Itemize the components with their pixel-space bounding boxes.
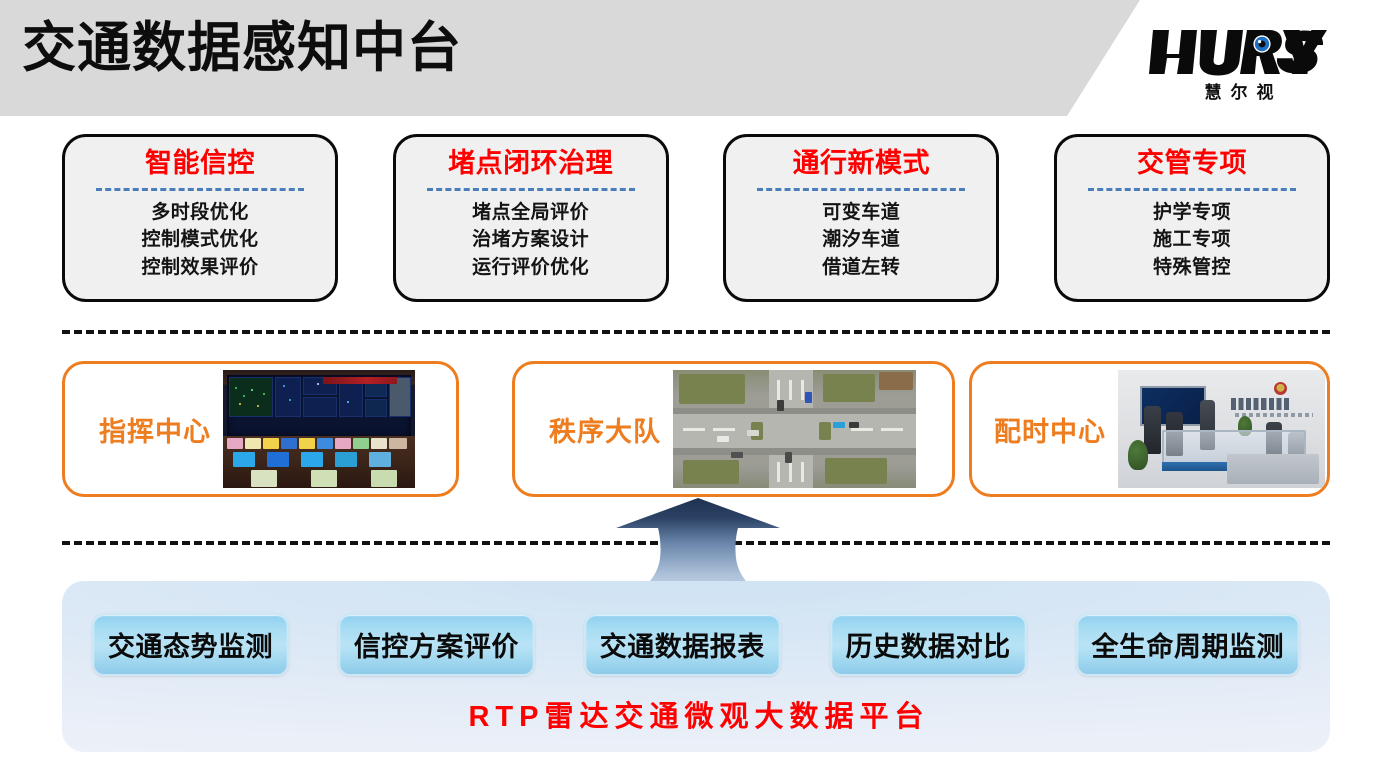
feature-card-title: 交管专项: [1137, 147, 1247, 181]
logo-subtitle: 慧尔视: [1149, 78, 1329, 103]
feature-card-item: 堵点全局评价: [472, 199, 589, 227]
feature-card-items: 堵点全局评价 治堵方案设计 运行评价优化: [472, 199, 589, 282]
feature-card-congestion-closed-loop[interactable]: 堵点闭环治理 堵点全局评价 治堵方案设计 运行评价优化: [393, 134, 669, 302]
signal-timing-center-photo: [1118, 370, 1325, 488]
feature-card-item: 控制效果评价: [141, 254, 258, 282]
feature-card-items: 多时段优化 控制模式优化 控制效果评价: [141, 199, 258, 282]
center-card-label: 秩序大队: [515, 410, 673, 449]
feature-card-item: 可变车道: [822, 199, 900, 227]
feature-card-row: 智能信控 多时段优化 控制模式优化 控制效果评价 堵点闭环治理 堵点全局评价 治…: [62, 134, 1330, 302]
feature-card-item: 借道左转: [822, 254, 900, 282]
platform-pill-traffic-situation[interactable]: 交通态势监测: [92, 613, 289, 676]
platform-pill-signal-plan-eval[interactable]: 信控方案评价: [338, 613, 535, 676]
feature-card-item: 特殊管控: [1153, 254, 1231, 282]
card-divider: [1088, 188, 1296, 191]
feature-card-items: 可变车道 潮汐车道 借道左转: [822, 199, 900, 282]
workstation-desk: [1227, 454, 1319, 484]
feature-card-items: 护学专项 施工专项 特殊管控: [1153, 199, 1231, 282]
feature-card-item: 潮汐车道: [822, 226, 900, 254]
feature-card-title: 通行新模式: [793, 147, 931, 181]
video-wall-banner: [323, 377, 397, 384]
platform-caption: RTP雷达交通微观大数据平台: [62, 693, 1330, 735]
aerial-intersection-photo: [673, 370, 916, 488]
huays-wordmark-icon: [1149, 24, 1329, 80]
center-card-timing-center[interactable]: 配时中心: [969, 361, 1330, 497]
eye-icon-glint: [1258, 40, 1261, 43]
feature-card-title: 智能信控: [145, 147, 255, 181]
feature-card-new-traffic-mode[interactable]: 通行新模式 可变车道 潮汐车道 借道左转: [723, 134, 999, 302]
card-divider: [427, 188, 635, 191]
feature-card-title: 堵点闭环治理: [448, 147, 613, 181]
data-platform-panel: 交通态势监测 信控方案评价 交通数据报表 历史数据对比 全生命周期监测 RTP雷…: [62, 581, 1330, 753]
feature-card-item: 护学专项: [1153, 199, 1231, 227]
police-emblem-icon: [1274, 382, 1287, 395]
feature-card-item: 控制模式优化: [141, 226, 258, 254]
feature-card-intelligent-signal[interactable]: 智能信控 多时段优化 控制模式优化 控制效果评价: [62, 134, 338, 302]
operator-desks: [223, 436, 415, 488]
wall-sign-text: [1231, 398, 1315, 410]
page-title: 交通数据感知中台: [22, 16, 462, 81]
card-divider: [757, 188, 965, 191]
platform-pill-row: 交通态势监测 信控方案评价 交通数据报表 历史数据对比 全生命周期监测: [92, 613, 1300, 676]
feature-card-item: 多时段优化: [151, 199, 249, 227]
platform-pill-history-comparison[interactable]: 历史数据对比: [830, 613, 1027, 676]
center-card-order-brigade[interactable]: 秩序大队: [512, 361, 955, 497]
platform-pill-lifecycle-monitoring[interactable]: 全生命周期监测: [1076, 613, 1301, 676]
center-card-row: 指挥中心: [62, 361, 1330, 497]
slide-canvas: 交通数据感知中台 慧尔视 智能信控: [0, 0, 1373, 769]
center-card-label: 配时中心: [972, 410, 1118, 449]
feature-card-traffic-management-special[interactable]: 交管专项 护学专项 施工专项 特殊管控: [1054, 134, 1330, 302]
dashed-divider-upper: [62, 330, 1330, 334]
center-card-label: 指挥中心: [65, 410, 223, 449]
feature-card-item: 施工专项: [1153, 226, 1231, 254]
card-divider: [96, 188, 304, 191]
platform-pill-traffic-data-report[interactable]: 交通数据报表: [584, 613, 781, 676]
center-card-command-center[interactable]: 指挥中心: [62, 361, 459, 497]
feature-card-item: 治堵方案设计: [472, 226, 589, 254]
command-center-photo: [223, 370, 415, 488]
feature-card-item: 运行评价优化: [472, 254, 589, 282]
video-wall: [227, 375, 411, 437]
company-logo: 慧尔视: [1149, 24, 1329, 104]
